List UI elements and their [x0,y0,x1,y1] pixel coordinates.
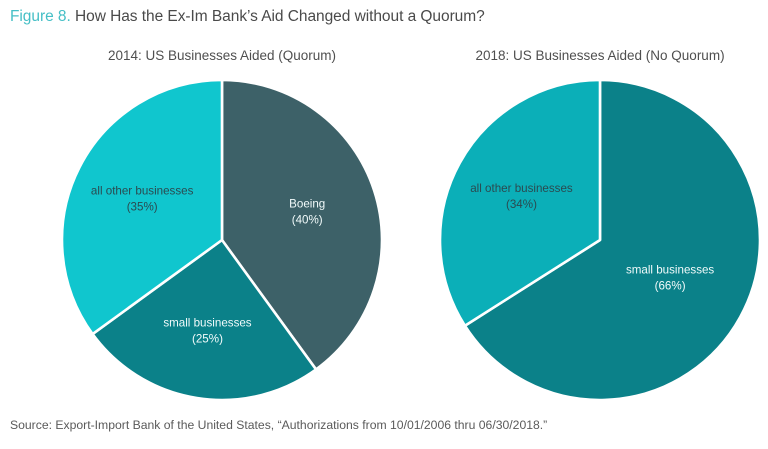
pie-slice-value-small-businesses: (66%) [655,280,686,293]
pie-slice-value-all-other-businesses: (34%) [506,198,537,211]
pie-slice-value-boeing: (40%) [292,213,323,226]
pie-slice-label-all-other-businesses: all other businesses [91,184,194,197]
pie-slice-label-small-businesses: small businesses [626,264,714,277]
chart-subtitle-2018: 2018: US Businesses Aided (No Quorum) [440,45,760,67]
figure-title-text: How Has the Ex-Im Bank’s Aid Changed wit… [75,8,485,25]
pie-slice-label-all-other-businesses: all other businesses [470,182,573,195]
pie-slice-label-small-businesses: small businesses [163,317,251,330]
pie-chart-2014-svg: Boeing(40%)small businesses(25%)all othe… [60,78,384,402]
chart-subtitle-2014: 2014: US Businesses Aided (Quorum) [62,45,382,67]
pie-slice-label-boeing: Boeing [289,197,325,210]
pie-chart-2018: small businesses(66%)all other businesse… [438,78,762,402]
figure-container: Figure 8. How Has the Ex-Im Bank’s Aid C… [0,0,768,449]
pie-slice-value-all-other-businesses: (35%) [127,200,158,213]
figure-title: Figure 8. How Has the Ex-Im Bank’s Aid C… [10,6,758,30]
pie-chart-2014: Boeing(40%)small businesses(25%)all othe… [60,78,384,402]
pie-slice-value-small-businesses: (25%) [192,333,223,346]
source-note: Source: Export-Import Bank of the United… [10,415,758,435]
figure-number-label: Figure 8. [10,8,71,25]
pie-chart-2018-svg: small businesses(66%)all other businesse… [438,78,762,402]
